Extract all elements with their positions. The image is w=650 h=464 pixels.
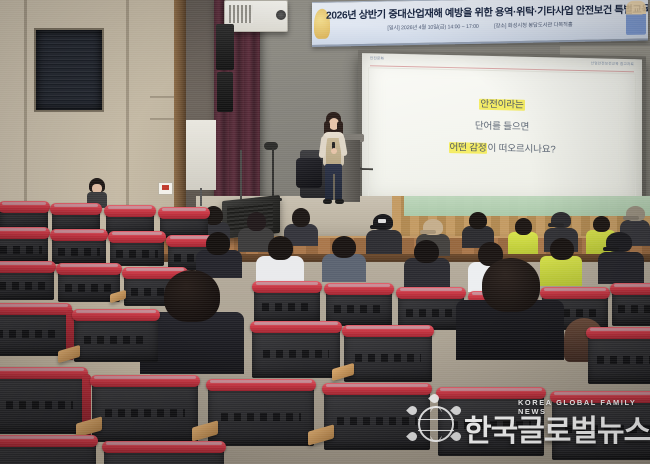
globe-rays <box>412 400 460 448</box>
watermark: KOREA GLOBAL FAMILY NEWS 한국글로벌뉴스 <box>406 392 644 458</box>
audience-person <box>598 252 644 284</box>
presenter-shoe-right <box>335 199 344 204</box>
audience-person <box>366 230 402 254</box>
seat[interactable] <box>52 234 106 264</box>
presenter-shoe-left <box>323 199 332 204</box>
wood-pillar <box>174 0 186 214</box>
banner-mascot-right-icon <box>626 1 646 35</box>
slide-header-right: 산업안전보건교육 참고자료 <box>591 61 634 67</box>
audience-cap-grey <box>626 206 645 221</box>
foreground-person-head <box>164 270 220 322</box>
slide-line-1: 안전이라는 <box>362 93 642 113</box>
seat[interactable] <box>0 232 48 262</box>
projection-screen-frame: 안전문화 산업안전보건교육 참고자료 안전이라는 단어를 들으면 어떤 감정이 … <box>358 50 646 215</box>
audience-head <box>550 238 574 260</box>
wall-sign <box>158 182 173 195</box>
seat[interactable] <box>110 236 164 266</box>
audience-head <box>469 212 487 229</box>
foreground-person-head <box>482 258 540 312</box>
audience-person <box>322 254 366 282</box>
seat[interactable] <box>252 326 340 378</box>
seat[interactable] <box>344 330 432 382</box>
seat[interactable] <box>74 314 158 362</box>
seat[interactable] <box>588 332 650 384</box>
photograph-auditorium-lecture: 2026년 상반기 중대산업재해 예방을 위한 용역·위탁·기타사업 안전보건 … <box>0 0 650 464</box>
banner-subtitle: [일시] 2026년 4월 10일(금) 14:00 ~ 17:00 [장소] … <box>326 19 634 33</box>
flipchart-leg <box>200 188 202 206</box>
seat[interactable] <box>612 288 650 326</box>
audience-head <box>332 236 356 258</box>
projector-lens <box>276 10 286 20</box>
banner-title: 2026년 상반기 중대산업재해 예방을 위한 용역·위탁·기타사업 안전보건 … <box>326 1 634 22</box>
wall-dark-grille-panel <box>34 28 104 112</box>
wall-speaker-upper <box>216 24 234 70</box>
seat[interactable] <box>208 384 314 446</box>
event-banner: 2026년 상반기 중대산업재해 예방을 위한 용역·위탁·기타사업 안전보건 … <box>312 0 648 47</box>
audience-safety-vest <box>508 232 538 254</box>
flipchart-board <box>186 120 216 190</box>
slide-body: 안전이라는 단어를 들으면 어떤 감정이 떠오르시나요? <box>362 85 642 165</box>
seat[interactable] <box>0 372 86 434</box>
audience-head <box>593 216 610 232</box>
audience-head <box>414 240 439 263</box>
seat[interactable] <box>104 446 224 464</box>
audience-safety-vest <box>540 256 582 286</box>
banner-datetime: [일시] 2026년 4월 10일(금) 14:00 ~ 17:00 <box>387 24 478 32</box>
microphone-head <box>264 142 278 150</box>
seat[interactable] <box>0 266 54 300</box>
banner-place: [장소] 화성시청 봉담도서관 다목적홀 <box>494 22 572 30</box>
wall-speaker-lower <box>217 72 233 112</box>
cap-logo <box>378 219 386 223</box>
seat[interactable] <box>0 308 70 356</box>
audience-head <box>292 208 310 227</box>
audience-cap-black <box>551 212 571 228</box>
projection-screen: 안전문화 산업안전보건교육 참고자료 안전이라는 단어를 들으면 어떤 감정이 … <box>362 53 642 209</box>
presenter-leg-gap <box>333 174 335 200</box>
watermark-korean: 한국글로벌뉴스 <box>464 406 650 450</box>
seat[interactable] <box>254 286 320 324</box>
wall-seam <box>126 0 129 238</box>
presenter-hand <box>331 148 337 154</box>
audience-head <box>206 232 230 255</box>
slide-line-3: 어떤 감정이 떠오르시나요? <box>362 137 642 157</box>
audience-head <box>268 236 293 260</box>
audience-cap-black <box>606 232 632 252</box>
globe-logo-icon <box>412 400 460 448</box>
microphone-stand <box>272 148 274 200</box>
audience-head <box>247 212 266 231</box>
slide-header-left: 안전문화 <box>370 56 384 61</box>
projector-vent <box>229 5 253 23</box>
presenter <box>318 112 348 207</box>
audience-cap-beige <box>423 219 443 235</box>
slide-line-2: 단어를 들으면 <box>362 115 642 135</box>
seat[interactable] <box>92 380 198 442</box>
audience-head <box>515 218 532 235</box>
easel-pole <box>240 150 242 202</box>
green-wall-panel <box>404 196 650 216</box>
seat[interactable] <box>0 440 96 464</box>
